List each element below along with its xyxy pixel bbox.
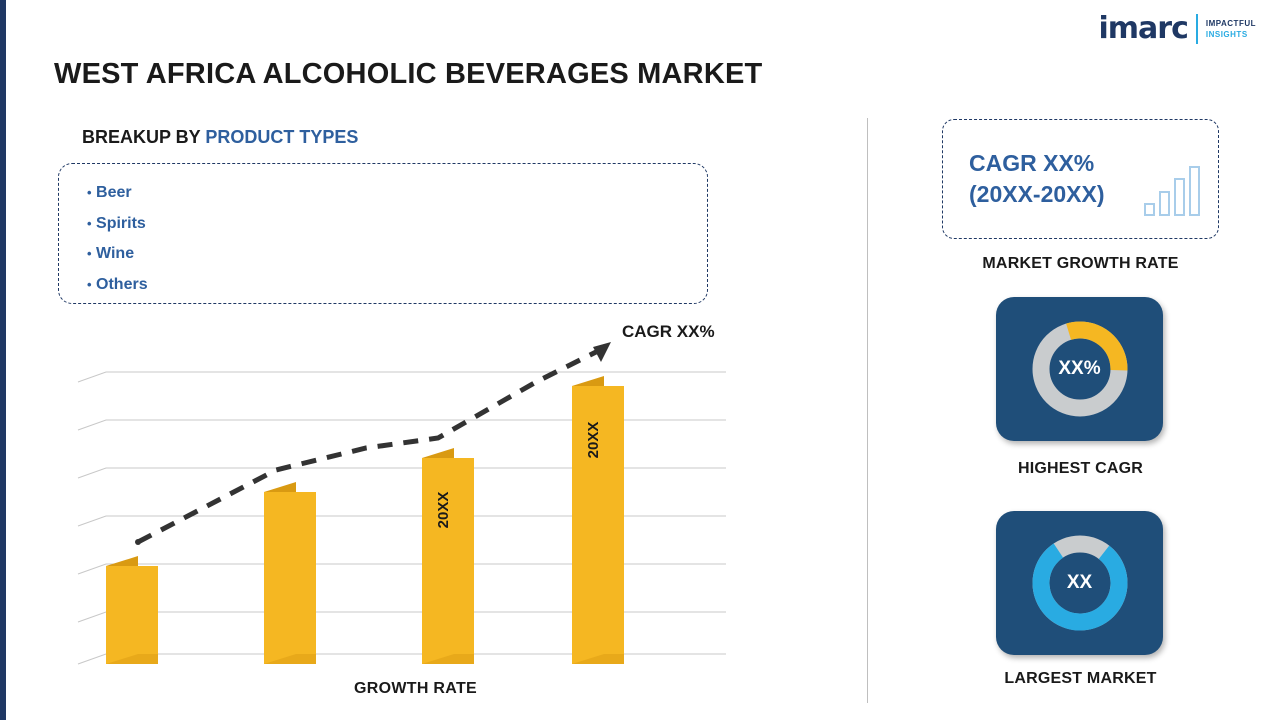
highest-cagr-card: XX% <box>996 297 1163 441</box>
chart-bar-1 <box>106 556 158 664</box>
product-types-box: • Beer • Spirits • Wine • Others <box>58 163 708 304</box>
slide: imarc IMPACTFUL INSIGHTS WEST AFRICA ALC… <box>0 0 1280 720</box>
logo-tagline: IMPACTFUL INSIGHTS <box>1206 18 1256 40</box>
imarc-logo: imarc IMPACTFUL INSIGHTS <box>1099 14 1257 44</box>
logo-tagline-line2: INSIGHTS <box>1206 29 1256 40</box>
breakup-heading-highlight: PRODUCT TYPES <box>205 127 358 147</box>
bullet-icon: • <box>87 216 92 231</box>
list-item-label: Beer <box>96 184 132 201</box>
growth-rate-chart: 20XX 20XX CAGR XX% GROWTH RATE <box>66 330 766 700</box>
list-item: • Others <box>87 270 707 301</box>
caption-market-growth-rate: MARKET GROWTH RATE <box>942 255 1219 273</box>
bar-label-4: 20XX <box>585 422 602 459</box>
cagr-value: CAGR XX% <box>969 148 1105 179</box>
chart-svg: 20XX 20XX <box>66 330 766 675</box>
bullet-icon: • <box>87 185 92 200</box>
breakup-heading-plain: BREAKUP BY <box>82 127 205 147</box>
caption-highest-cagr: HIGHEST CAGR <box>942 460 1219 478</box>
page-title: WEST AFRICA ALCOHOLIC BEVERAGES MARKET <box>54 58 762 91</box>
chart-bar-2 <box>264 482 316 664</box>
list-item: • Spirits <box>87 209 707 240</box>
breakup-heading: BREAKUP BY PRODUCT TYPES <box>82 127 358 148</box>
logo-text: imarc <box>1099 11 1188 46</box>
logo-divider <box>1196 14 1198 44</box>
list-item-label: Others <box>96 276 148 293</box>
vertical-divider <box>867 118 868 703</box>
chart-gridlines <box>78 372 726 664</box>
list-item: • Wine <box>87 239 707 270</box>
chart-bar-3: 20XX <box>422 448 474 664</box>
list-item-label: Wine <box>96 245 134 262</box>
market-growth-rate-box: CAGR XX% (20XX-20XX) <box>942 119 1219 239</box>
bar-label-3: 20XX <box>435 492 452 529</box>
bullet-icon: • <box>87 277 92 292</box>
bar-chart-icon <box>1144 166 1200 216</box>
list-item: • Beer <box>87 178 707 209</box>
list-item-label: Spirits <box>96 215 146 232</box>
chart-annotation-cagr: CAGR XX% <box>622 322 715 342</box>
cagr-text: CAGR XX% (20XX-20XX) <box>969 148 1105 210</box>
chart-xaxis-label: GROWTH RATE <box>354 680 477 698</box>
largest-market-card: XX <box>996 511 1163 655</box>
logo-tagline-line1: IMPACTFUL <box>1206 18 1256 29</box>
donut-value-highest-cagr: XX% <box>996 358 1163 380</box>
donut-value-largest-market: XX <box>996 572 1163 594</box>
logo-wordmark: imarc <box>1099 14 1188 44</box>
chart-bar-4: 20XX <box>572 376 624 664</box>
cagr-period: (20XX-20XX) <box>969 179 1105 210</box>
bullet-icon: • <box>87 246 92 261</box>
caption-largest-market: LARGEST MARKET <box>942 670 1219 688</box>
